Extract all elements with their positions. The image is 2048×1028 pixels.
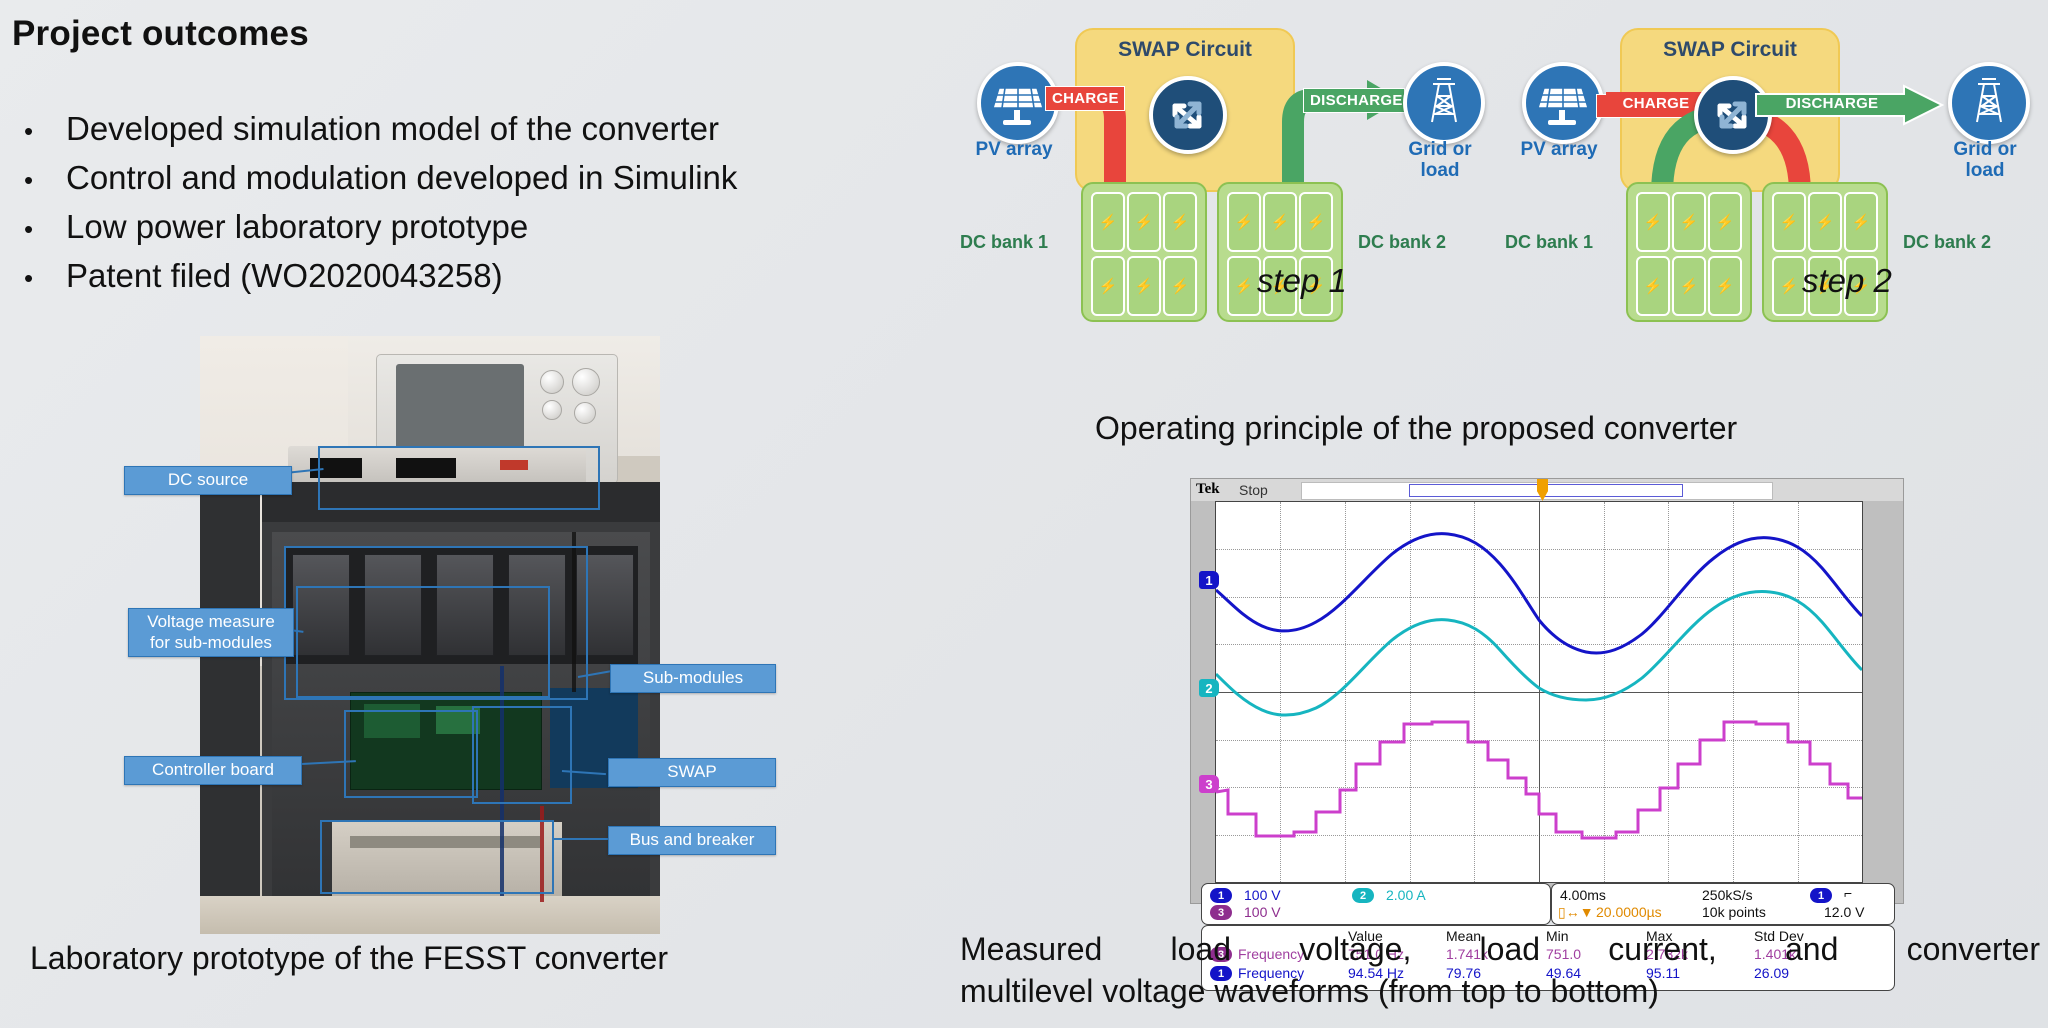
record-length: 10k points — [1702, 904, 1766, 920]
battery-cell: ⚡ — [1299, 192, 1333, 252]
battery-cell: ⚡ — [1772, 192, 1806, 252]
callout-label: SWAP — [667, 762, 716, 781]
trace-ch1 — [1216, 534, 1862, 653]
operating-principle-step2: PV array SWAP Circuit CHARGE — [1510, 14, 2030, 394]
slide-root: Project outcomes • Developed simulation … — [0, 0, 2048, 1028]
photo-highlight-swap — [472, 706, 572, 804]
dc-bank-2-label: DC bank 2 — [1347, 232, 1457, 253]
callout-label: Bus and breaker — [630, 830, 755, 849]
dc-bank-2-label: DC bank 2 — [1892, 232, 2002, 253]
trigger-position-value: 20.0000µs — [1596, 904, 1662, 920]
operating-principle-step1: PV array SWAP Circuit CHARGE DIS — [965, 14, 1485, 394]
dc-bank-1-label: DC bank 1 — [949, 232, 1059, 253]
swap-circuit-title: SWAP Circuit — [1622, 38, 1838, 62]
battery-cell: ⚡ — [1708, 192, 1742, 252]
battery-cell: ⚡ — [1844, 192, 1878, 252]
ch2-scale: 2.00 A — [1386, 887, 1426, 903]
vertical-settings-readout: 1 100 V 3 100 V 2 2.00 A — [1201, 883, 1551, 925]
callout-label: Controller board — [152, 760, 274, 779]
bullet-marker-icon: • — [14, 216, 66, 242]
dc-bank-2: ⚡ ⚡ ⚡ ⚡ ⚡ ⚡ — [1217, 182, 1343, 322]
bullet-text: Low power laboratory prototype — [66, 206, 528, 249]
dc-bank-1: ⚡ ⚡ ⚡ ⚡ ⚡ ⚡ — [1081, 182, 1207, 322]
dc-bank-1-label: DC bank 1 — [1494, 232, 1604, 253]
grid-label-line1: Grid or — [1953, 139, 2016, 160]
pv-array-label: PV array — [1499, 140, 1619, 161]
ch3-scale: 100 V — [1244, 904, 1281, 920]
trace-ch3 — [1216, 722, 1862, 838]
caption-right: Measured load voltage, load current, and… — [960, 928, 2040, 1012]
battery-cell: ⚡ — [1227, 256, 1261, 316]
list-item: • Developed simulation model of the conv… — [14, 108, 754, 151]
battery-cell: ⚡ — [1708, 256, 1742, 316]
photo-highlight-controller — [344, 710, 478, 798]
sample-rate: 250kS/s — [1702, 887, 1753, 903]
discharge-tag: DISCHARGE — [1303, 88, 1405, 113]
trace-ch2 — [1216, 592, 1862, 716]
trigger-source-chip: 1 — [1810, 888, 1832, 903]
dc-bank-2: ⚡ ⚡ ⚡ ⚡ ⚡ ⚡ — [1762, 182, 1888, 322]
list-item: • Patent filed (WO2020043258) — [14, 255, 754, 298]
trigger-slope-icon: ⌐ — [1844, 885, 1852, 901]
callout-leader — [552, 838, 608, 840]
bullet-marker-icon: • — [14, 265, 66, 291]
scope-status-bar: Tek Stop — [1191, 479, 1903, 501]
battery-cell: ⚡ — [1163, 192, 1197, 252]
ch3-chip: 3 — [1210, 905, 1232, 920]
callout-label-line2: for sub-modules — [150, 633, 272, 652]
battery-cell: ⚡ — [1672, 256, 1706, 316]
waveform-grid — [1215, 501, 1863, 883]
photo-highlight-dc-source — [318, 446, 600, 510]
photo-highlight-bus — [320, 820, 554, 894]
battery-cell: ⚡ — [1091, 256, 1125, 316]
battery-cell: ⚡ — [1227, 192, 1261, 252]
bullet-text: Developed simulation model of the conver… — [66, 108, 719, 151]
tek-logo: Tek — [1196, 481, 1220, 498]
trigger-position-icon: ▯↔▼ — [1558, 904, 1594, 921]
ch1-scale: 100 V — [1244, 887, 1281, 903]
caption-left: Laboratory prototype of the FESST conver… — [30, 940, 668, 977]
step-2-label: step 2 — [1802, 262, 1892, 300]
acquisition-state: Stop — [1239, 482, 1268, 498]
channel-marker-1[interactable]: 1 — [1199, 571, 1219, 589]
charge-tag: CHARGE — [1045, 86, 1125, 111]
callout-label: Sub-modules — [643, 668, 743, 687]
waveform-traces — [1216, 502, 1862, 882]
swap-circuit-title: SWAP Circuit — [1077, 38, 1293, 62]
callout-swap[interactable]: SWAP — [608, 758, 776, 787]
bullet-list: • Developed simulation model of the conv… — [14, 108, 754, 304]
battery-cell: ⚡ — [1263, 192, 1297, 252]
battery-cell: ⚡ — [1636, 256, 1670, 316]
channel-marker-3[interactable]: 3 — [1199, 775, 1219, 793]
grid-label-line2: load — [1420, 160, 1459, 181]
horizontal-trigger-readout: 4.00ms ▯↔▼ 20.0000µs 250kS/s 10k points … — [1551, 883, 1895, 925]
caption-middle: Operating principle of the proposed conv… — [1095, 410, 1737, 447]
bullet-marker-icon: • — [14, 118, 66, 144]
list-item: • Low power laboratory prototype — [14, 206, 754, 249]
grid-or-load-icon — [1948, 62, 2030, 144]
time-per-div: 4.00ms — [1560, 887, 1606, 903]
step-1-label: step 1 — [1257, 262, 1347, 300]
callout-dc-source[interactable]: DC source — [124, 466, 292, 495]
battery-cell: ⚡ — [1127, 192, 1161, 252]
grid-label-line1: Grid or — [1408, 139, 1471, 160]
trigger-level: 12.0 V — [1824, 904, 1864, 920]
page-title: Project outcomes — [12, 14, 309, 54]
grid-or-load-icon — [1403, 62, 1485, 144]
discharge-tag: DISCHARGE — [1766, 92, 1898, 115]
callout-sub-modules[interactable]: Sub-modules — [610, 664, 776, 693]
caption-right-line1: Measured load voltage, load current, and… — [960, 928, 2040, 970]
battery-cell: ⚡ — [1127, 256, 1161, 316]
battery-cell: ⚡ — [1091, 192, 1125, 252]
callout-controller-board[interactable]: Controller board — [124, 756, 302, 785]
battery-cell: ⚡ — [1772, 256, 1806, 316]
ch1-chip: 1 — [1210, 888, 1232, 903]
oscilloscope-screenshot: Tek Stop 1 — [1190, 478, 1904, 904]
photo-highlight-sub-modules — [284, 546, 588, 700]
battery-cell: ⚡ — [1672, 192, 1706, 252]
battery-cell: ⚡ — [1636, 192, 1670, 252]
callout-bus-and-breaker[interactable]: Bus and breaker — [608, 826, 776, 855]
channel-marker-2[interactable]: 2 — [1199, 679, 1219, 697]
caption-right-line2: multilevel voltage waveforms (from top t… — [960, 970, 2040, 1012]
battery-cell: ⚡ — [1163, 256, 1197, 316]
dc-bank-1: ⚡ ⚡ ⚡ ⚡ ⚡ ⚡ — [1626, 182, 1752, 322]
callout-voltage-measure[interactable]: Voltage measure for sub-modules — [128, 608, 294, 657]
ch2-chip: 2 — [1352, 888, 1374, 903]
bullet-text: Patent filed (WO2020043258) — [66, 255, 503, 298]
battery-cell: ⚡ — [1808, 192, 1842, 252]
pv-array-icon — [1522, 62, 1604, 144]
grid-or-load-label: Grid or load — [1380, 140, 1500, 182]
bullet-text: Control and modulation developed in Simu… — [66, 157, 737, 200]
callout-label: DC source — [168, 470, 248, 489]
callout-label-line1: Voltage measure — [147, 612, 275, 631]
grid-or-load-label: Grid or load — [1925, 140, 2045, 182]
bullet-marker-icon: • — [14, 167, 66, 193]
grid-label-line2: load — [1965, 160, 2004, 181]
list-item: • Control and modulation developed in Si… — [14, 157, 754, 200]
